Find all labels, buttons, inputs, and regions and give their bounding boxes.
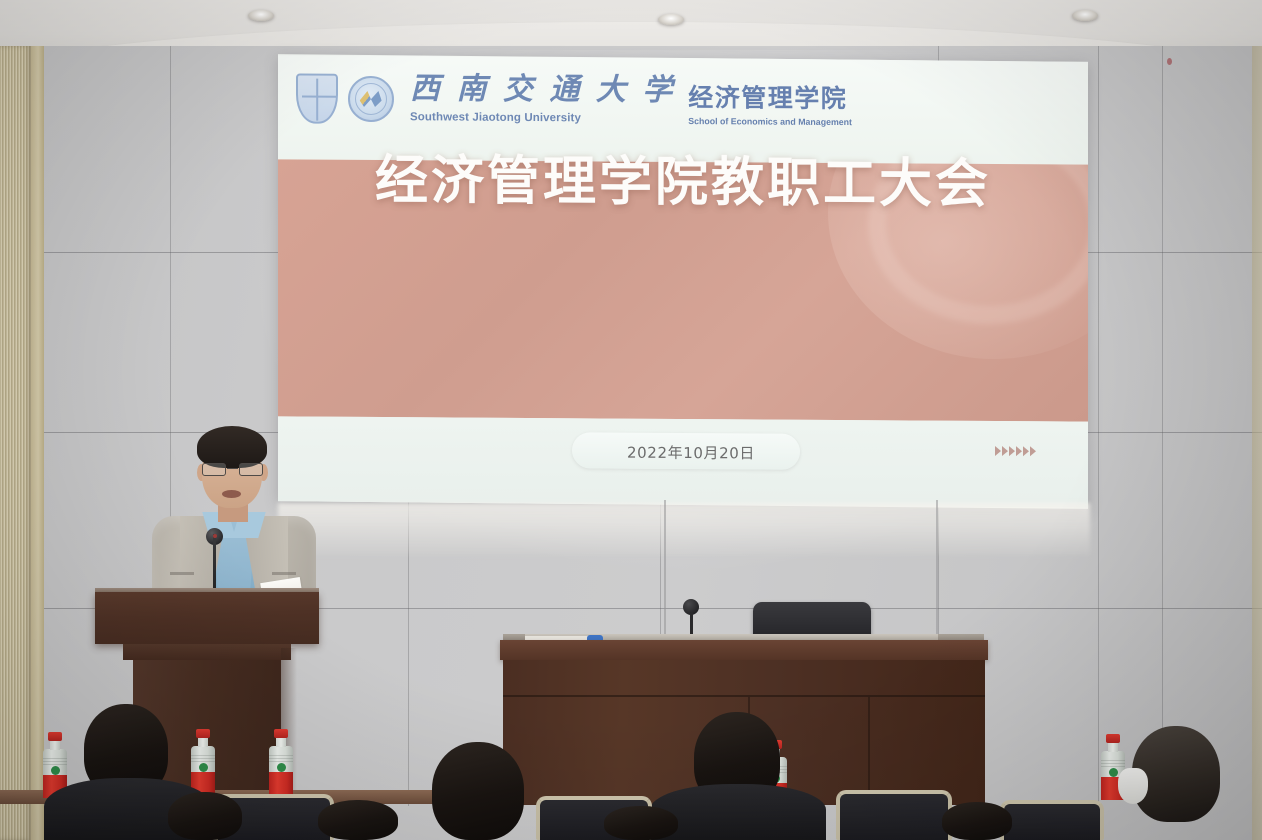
table-groove: [503, 695, 985, 697]
lens-right: [239, 463, 263, 476]
chevron-right-icon: [1009, 446, 1015, 456]
audience-head: [168, 792, 242, 840]
shield-crest-icon: [296, 74, 338, 124]
bottle-neck: [198, 738, 208, 747]
downlight-icon: [1072, 10, 1098, 21]
school-name-en: School of Economics and Management: [688, 117, 852, 127]
speaker-pocket-flap: [272, 572, 296, 575]
water-bottle: [190, 729, 216, 795]
bottle-neck: [1108, 743, 1118, 752]
chevron-right-icon: [1016, 446, 1022, 456]
chevron-right-icon: [1002, 446, 1008, 456]
school-name-cn: 经济管理学院: [688, 85, 852, 111]
university-name-cn: 西 南 交 通 大 学: [410, 74, 675, 106]
head-table-top: [500, 640, 988, 660]
bottle-neck: [50, 741, 60, 750]
projection-screen: 西 南 交 通 大 学 Southwest Jiaotong Universit…: [278, 54, 1088, 509]
university-name-en: Southwest Jiaotong University: [410, 112, 675, 125]
wall-pole: [664, 500, 666, 636]
conference-hall-photo: 西 南 交 通 大 学 Southwest Jiaotong Universit…: [0, 0, 1262, 840]
wall-seam: [1162, 46, 1163, 806]
bottle-cap: [196, 729, 210, 738]
speaker-hair: [197, 426, 267, 468]
face-mask: [1118, 768, 1148, 804]
institution-wordmark: 西 南 交 通 大 学 Southwest Jiaotong Universit…: [410, 74, 852, 126]
slide-logo-row: 西 南 交 通 大 学 Southwest Jiaotong Universit…: [296, 74, 852, 128]
podium-plinth: [123, 644, 291, 660]
wall-seam: [1098, 46, 1099, 806]
bottle-neck: [276, 738, 286, 747]
chevron-right-icon: [1030, 446, 1036, 456]
audience-head: [318, 800, 398, 840]
circular-emblem-icon: [348, 76, 394, 122]
water-bottle: [268, 729, 294, 795]
speaker-pocket-flap: [170, 572, 194, 575]
downlight-icon: [658, 14, 684, 25]
audience-head: [942, 802, 1012, 840]
lens-left: [202, 463, 226, 476]
auditorium-seat: [836, 790, 952, 840]
wall-red-mark: [1167, 58, 1172, 65]
chevron-decoration: [995, 446, 1036, 456]
bottle-cap: [48, 732, 62, 741]
rib-column-edge: [31, 46, 44, 840]
acoustic-rib-column-left: [0, 46, 31, 840]
acoustic-rib-column-right: [1252, 46, 1262, 840]
audience-head: [432, 742, 524, 840]
bottle-label: [269, 772, 293, 795]
wall-pole: [936, 500, 938, 636]
speaker-mouth: [222, 490, 241, 498]
glasses-bridge: [227, 468, 238, 469]
bottle-cap: [274, 729, 288, 738]
audience-shoulders: [650, 784, 826, 840]
slide-date: 2022年10月20日: [596, 441, 786, 463]
table-seam: [868, 697, 870, 805]
audience-head: [604, 806, 678, 840]
projection-spill: [278, 503, 1090, 555]
chevron-right-icon: [995, 446, 1001, 456]
auditorium-seat: [1000, 800, 1104, 840]
podium-top: [95, 592, 319, 644]
glasses-icon: [202, 463, 263, 476]
slide-title: 经济管理学院教职工大会: [278, 137, 1088, 218]
microphone-indicator-light: [213, 534, 217, 538]
downlight-icon: [248, 10, 274, 21]
emblem-mark-icon: [358, 91, 383, 107]
bottle-cap: [1106, 734, 1120, 743]
chevron-right-icon: [1023, 446, 1029, 456]
